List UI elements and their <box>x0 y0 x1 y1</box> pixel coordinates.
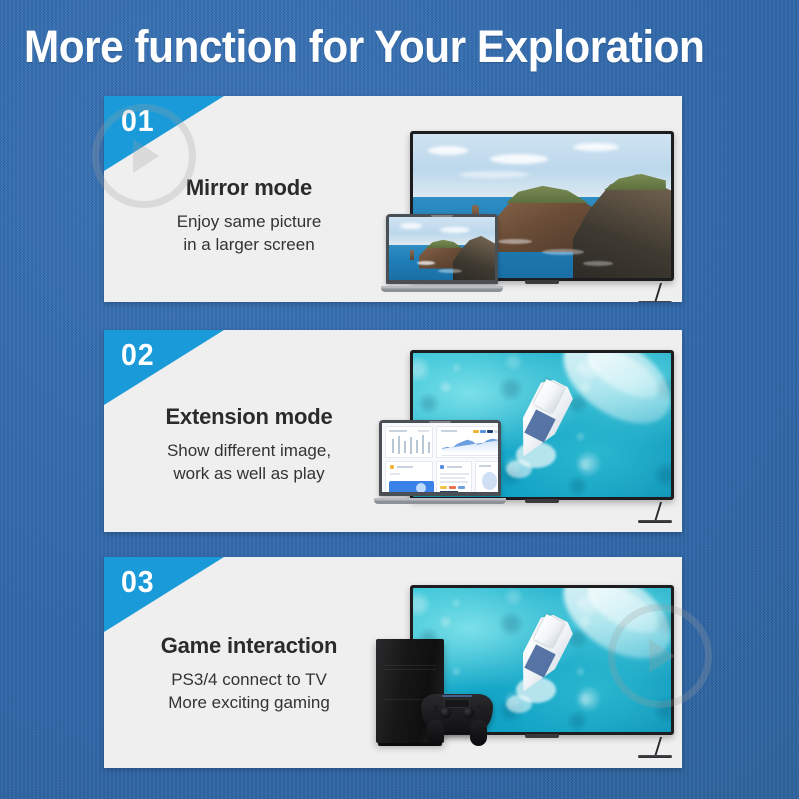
tv-logo-chin <box>525 280 559 284</box>
feature-card-game-interaction[interactable]: 03 Game interaction PS3/4 connect to TV … <box>104 557 682 768</box>
laptop-webcam-notch <box>429 421 451 423</box>
card-1-text-block: Mirror mode Enjoy same picture in a larg… <box>104 174 394 256</box>
card-subtitle-line-1: Show different image, <box>104 439 394 462</box>
tv-stand-base <box>638 520 672 523</box>
tv-stand-leg <box>654 737 662 757</box>
card-3-text-block: Game interaction PS3/4 connect to TV Mor… <box>104 632 394 714</box>
page-title: More function for Your Exploration <box>24 20 738 74</box>
card-subtitle-line-1: Enjoy same picture <box>104 210 394 233</box>
tv-stand-base <box>638 301 672 302</box>
wallpaper-coastal-cliffs-laptop <box>389 217 495 280</box>
laptop-screen-dashboard <box>382 423 498 492</box>
tv-logo-chin <box>525 734 559 738</box>
feature-card-extension-mode[interactable]: 02 Extension mode Show different image, … <box>104 330 682 532</box>
card-2-text-block: Extension mode Show different image, wor… <box>104 403 394 485</box>
card-subtitle-line-2: work as well as play <box>104 462 394 485</box>
laptop-lid <box>379 420 501 496</box>
tv-stand-leg <box>654 283 662 302</box>
card-number: 02 <box>121 338 155 372</box>
card-number: 01 <box>121 104 155 138</box>
feature-card-mirror-mode[interactable]: 01 Mirror mode Enjoy same picture in a l… <box>104 96 682 302</box>
tv-stand-base <box>638 755 672 758</box>
card-subtitle-line-1: PS3/4 connect to TV <box>104 668 394 691</box>
card-subtitle-line-2: More exciting gaming <box>104 691 394 714</box>
tv-stand-leg <box>654 502 662 522</box>
gamepad-left-grip <box>427 720 444 746</box>
card-heading: Mirror mode <box>104 174 394 202</box>
laptop-lid <box>386 214 498 284</box>
card-heading: Extension mode <box>104 403 394 431</box>
gamepad-right-stick <box>463 707 474 718</box>
laptop-webcam-notch <box>431 215 453 217</box>
infographic-canvas: More function for Your Exploration <box>0 0 799 799</box>
gamepad-right-grip <box>470 720 487 746</box>
card-subtitle: PS3/4 connect to TV More exciting gaming <box>104 668 394 714</box>
gamepad-controller <box>421 694 493 734</box>
laptop-screen <box>389 217 495 280</box>
gamepad-lightbar <box>442 695 472 697</box>
tv-logo-chin <box>525 499 559 503</box>
card-subtitle: Enjoy same picture in a larger screen <box>104 210 394 256</box>
laptop-base <box>374 498 506 504</box>
gamepad-left-stick <box>440 707 451 718</box>
card-number: 03 <box>121 565 155 599</box>
card-heading: Game interaction <box>104 632 394 660</box>
card-subtitle-line-2: in a larger screen <box>104 233 394 256</box>
analytics-dashboard <box>382 423 498 492</box>
laptop-base <box>381 286 503 292</box>
card-subtitle: Show different image, work as well as pl… <box>104 439 394 485</box>
laptop-device <box>381 214 503 294</box>
